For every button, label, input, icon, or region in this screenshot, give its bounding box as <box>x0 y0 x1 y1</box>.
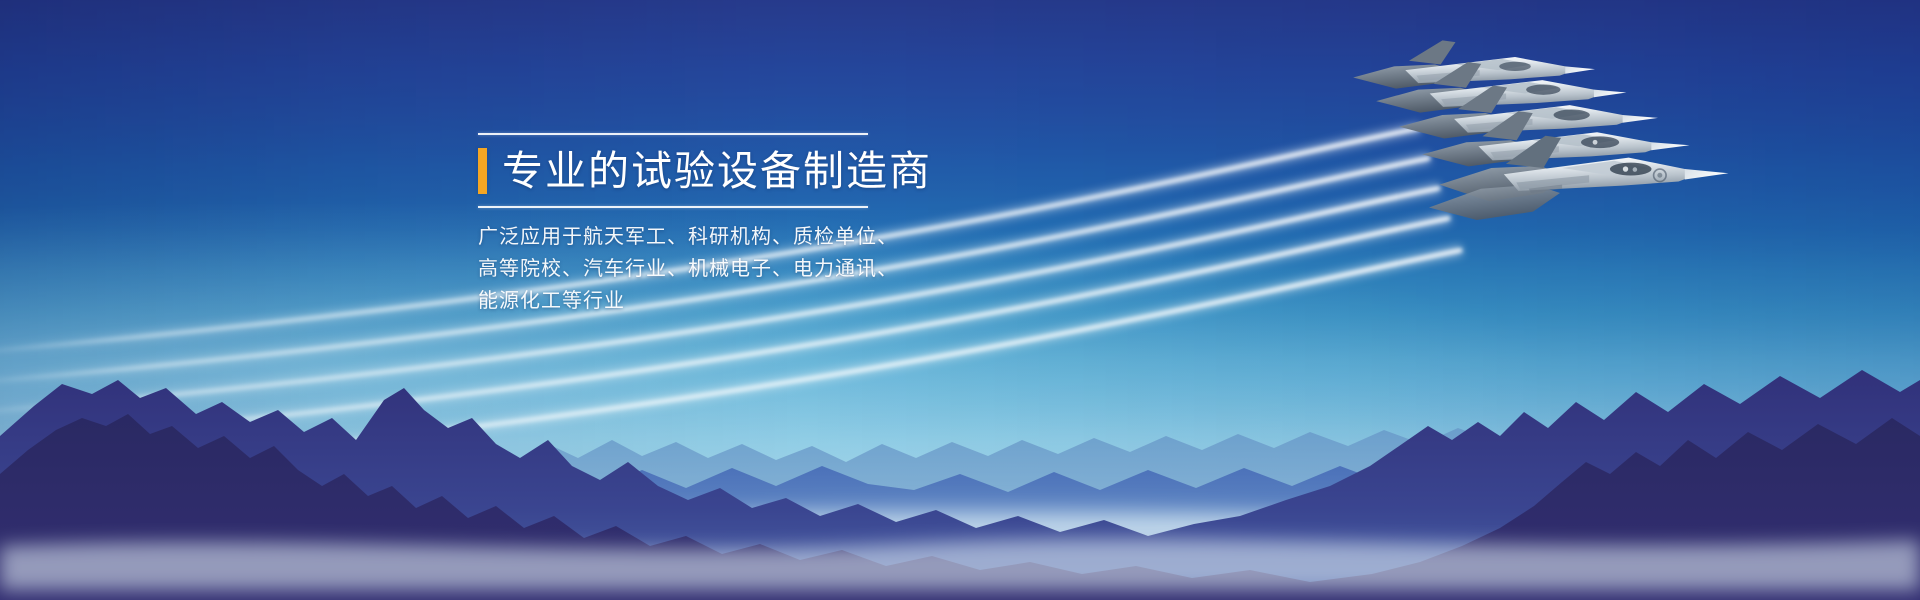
divider-top <box>478 133 868 135</box>
accent-bar <box>478 148 487 194</box>
page-title: 专业的试验设备制造商 <box>502 148 932 194</box>
mountain-range <box>0 340 1920 600</box>
fighter-jet-formation <box>1358 44 1858 304</box>
subtitle-line-1: 广泛应用于航天军工、科研机构、质检单位、 <box>478 220 1098 252</box>
hero-banner: 专业的试验设备制造商 广泛应用于航天军工、科研机构、质检单位、 高等院校、汽车行… <box>0 0 1920 600</box>
banner-copy: 专业的试验设备制造商 广泛应用于航天军工、科研机构、质检单位、 高等院校、汽车行… <box>478 133 1098 316</box>
headline-row: 专业的试验设备制造商 <box>478 148 1098 194</box>
divider-bottom <box>478 206 868 208</box>
subtitle-line-2: 高等院校、汽车行业、机械电子、电力通讯、 <box>478 252 1098 284</box>
subtitle-line-3: 能源化工等行业 <box>478 284 1098 316</box>
banner-subtitle: 广泛应用于航天军工、科研机构、质检单位、 高等院校、汽车行业、机械电子、电力通讯… <box>478 220 1098 316</box>
